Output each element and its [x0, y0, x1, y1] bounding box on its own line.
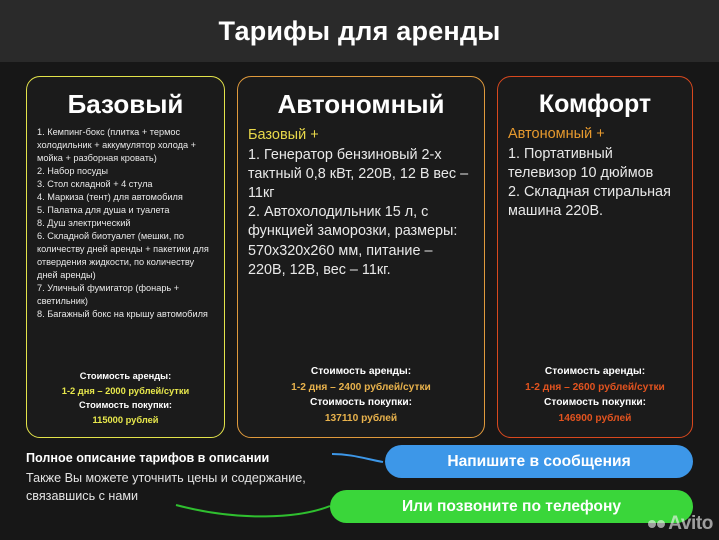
list-item: 6. Складной биотуалет (мешки, по количес…	[37, 230, 214, 282]
page-title: Тарифы для аренды	[218, 16, 500, 47]
buy-price-label: Стоимость покупки:	[37, 398, 214, 412]
list-item: 2. Складная стиральная машина 220В.	[508, 183, 682, 221]
card-feature-list: 1. Генератор бензиновый 2-х тактный 0,8 …	[248, 146, 474, 364]
rent-price-value: 1-2 дня – 2000 рублей/сутки	[37, 384, 214, 398]
tariff-card-autonomous[interactable]: Автономный Базовый + 1. Генератор бензин…	[237, 76, 485, 438]
write-message-label: Напишите в сообщения	[447, 453, 630, 471]
card-pricing: Стоимость аренды: 1-2 дня – 2400 рублей/…	[248, 364, 474, 431]
buy-price-label: Стоимость покупки:	[508, 395, 682, 411]
connector-green-line	[176, 505, 330, 516]
buy-price-value: 146900 рублей	[508, 411, 682, 427]
card-pricing: Стоимость аренды: 1-2 дня – 2000 рублей/…	[37, 369, 214, 431]
card-title: Комфорт	[508, 91, 682, 117]
card-title: Базовый	[37, 91, 214, 118]
buy-price-label: Стоимость покупки:	[248, 395, 474, 411]
rent-price-value: 1-2 дня – 2400 рублей/сутки	[248, 380, 474, 396]
card-subtitle: Базовый +	[248, 126, 474, 145]
footer-heading: Полное описание тарифов в описании	[26, 449, 356, 468]
tariff-card-comfort[interactable]: Комфорт Автономный + 1. Портативный теле…	[497, 76, 693, 438]
rent-price-value: 1-2 дня – 2600 рублей/сутки	[508, 380, 682, 396]
rent-price-label: Стоимость аренды:	[37, 369, 214, 383]
list-item: 3. Стол складной + 4 стула	[37, 178, 214, 191]
footer-section: Полное описание тарифов в описании Также…	[0, 440, 719, 540]
list-item: 5. Палатка для душа и туалета	[37, 204, 214, 217]
list-item: 2. Набор посуды	[37, 165, 214, 178]
rent-price-label: Стоимость аренды:	[508, 364, 682, 380]
card-pricing: Стоимость аренды: 1-2 дня – 2600 рублей/…	[508, 364, 682, 431]
list-item: 4. Маркиза (тент) для автомобиля	[37, 191, 214, 204]
header-bar: Тарифы для аренды	[0, 0, 719, 62]
tariff-card-basic[interactable]: Базовый 1. Кемпинг-бокс (плитка + термос…	[26, 76, 225, 438]
list-item: 1. Кемпинг-бокс (плитка + термос холодил…	[37, 126, 214, 165]
card-title: Автономный	[248, 91, 474, 118]
list-item: 8. Багажный бокс на крышу автомобиля	[37, 308, 214, 321]
call-phone-button[interactable]: Или позвоните по телефону	[330, 490, 693, 523]
buy-price-value: 137110 рублей	[248, 411, 474, 427]
card-feature-list: 1. Портативный телевизор 10 дюймов 2. Ск…	[508, 145, 682, 364]
buy-price-value: 115000 рублей	[37, 413, 214, 427]
call-phone-label: Или позвоните по телефону	[402, 498, 621, 516]
card-feature-list: 1. Кемпинг-бокс (плитка + термос холодил…	[37, 126, 214, 369]
tariff-infographic: Тарифы для аренды Базовый 1. Кемпинг-бок…	[0, 0, 719, 540]
list-item: 2. Автохолодильник 15 л, с функцией замо…	[248, 203, 474, 280]
footer-subtext: Также Вы можете уточнить цены и содержан…	[26, 469, 356, 506]
list-item: 8. Душ электрический	[37, 217, 214, 230]
rent-price-label: Стоимость аренды:	[248, 364, 474, 380]
list-item: 1. Генератор бензиновый 2-х тактный 0,8 …	[248, 146, 474, 203]
list-item: 7. Уличный фумигатор (фонарь + светильни…	[37, 282, 214, 308]
write-message-button[interactable]: Напишите в сообщения	[385, 445, 693, 478]
list-item: 1. Портативный телевизор 10 дюймов	[508, 145, 682, 183]
card-subtitle: Автономный +	[508, 125, 682, 144]
tariff-cards-row: Базовый 1. Кемпинг-бокс (плитка + термос…	[0, 62, 719, 440]
footer-description: Полное описание тарифов в описании Также…	[26, 449, 356, 505]
